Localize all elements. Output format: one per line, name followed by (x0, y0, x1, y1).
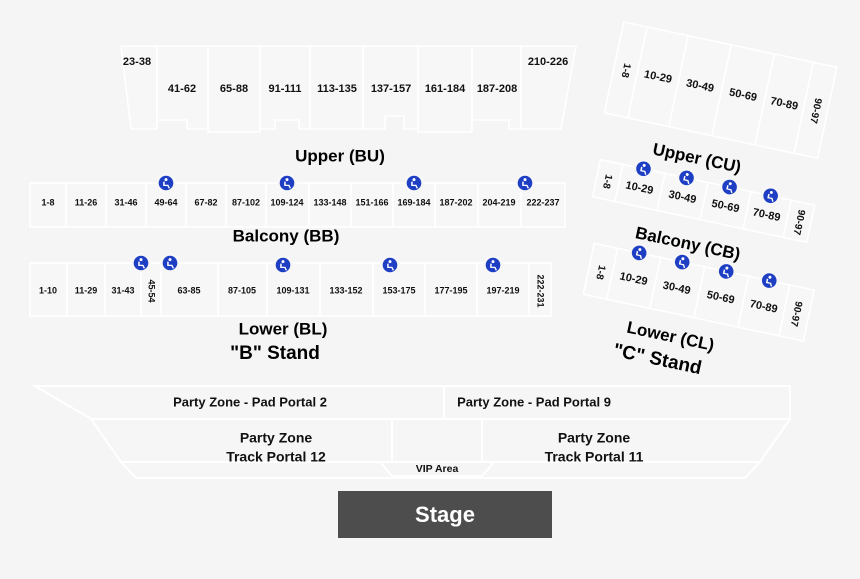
zone-subtitle-lower-bl: "B" Stand (230, 343, 320, 364)
section-label: 177-195 (434, 285, 467, 295)
section-label: 187-202 (439, 197, 472, 207)
label-track-portal-11-line1: Party Zone (558, 430, 631, 446)
section-label: 11-26 (75, 197, 98, 207)
section-label: 137-157 (371, 83, 411, 95)
label-pad-portal-2: Party Zone - Pad Portal 2 (173, 394, 327, 409)
zone-title-balcony-bb: Balcony (BB) (233, 226, 340, 245)
section-label: 161-184 (425, 83, 466, 95)
section-label: 109-131 (276, 285, 309, 295)
zone-title-upper-bu: Upper (BU) (295, 146, 385, 165)
section-label: 87-105 (228, 285, 256, 295)
section-label: 1-10 (39, 285, 57, 295)
seating-chart: 23-38 41-62 65-88 91-111 113-135 137-157… (0, 0, 860, 579)
section-label: 11-29 (75, 285, 98, 295)
section-label: 1-8 (41, 197, 54, 207)
section-label: 63-85 (177, 285, 200, 295)
section-label: 113-135 (317, 83, 357, 95)
section-label: 31-43 (111, 285, 134, 295)
section-label: 151-166 (355, 197, 388, 207)
section-label: 109-124 (270, 197, 303, 207)
label-track-portal-12-line1: Party Zone (240, 430, 313, 446)
section-label: 49-64 (154, 197, 177, 207)
section-label: 210-226 (528, 56, 568, 68)
label-track-portal-12-line2: Track Portal 12 (226, 449, 326, 465)
section-label: 204-219 (482, 197, 515, 207)
wheelchair-icon (515, 173, 535, 193)
label-pad-portal-9: Party Zone - Pad Portal 9 (457, 394, 611, 409)
wheelchair-icon (404, 173, 424, 193)
section-label: 197-219 (486, 285, 519, 295)
section-label: 31-46 (114, 197, 137, 207)
wheelchair-icon (160, 253, 180, 273)
section-label: 41-62 (168, 83, 196, 95)
section-label: 87-102 (232, 197, 260, 207)
section-label: 91-111 (268, 83, 301, 95)
seating-map-svg[interactable]: 23-38 41-62 65-88 91-111 113-135 137-157… (0, 0, 860, 579)
wheelchair-icon (273, 255, 293, 275)
label-track-portal-11-line2: Track Portal 11 (545, 449, 644, 465)
section-label: 222-237 (526, 197, 559, 207)
wheelchair-icon (380, 255, 400, 275)
section-label: 153-175 (382, 285, 415, 295)
section-label: 65-88 (220, 83, 248, 95)
floor-vip-upper[interactable] (392, 419, 482, 462)
stage-label: Stage (415, 502, 475, 527)
section-label: 133-152 (329, 285, 362, 295)
section-label: 169-184 (397, 197, 430, 207)
wheelchair-icon (131, 253, 151, 273)
label-vip-area: VIP Area (416, 463, 459, 475)
section-label: 222-231 (536, 274, 546, 307)
wheelchair-icon (483, 255, 503, 275)
zone-title-lower-bl: Lower (BL) (239, 319, 328, 338)
section-label: 67-82 (194, 197, 217, 207)
section-label: 45-54 (147, 279, 157, 302)
wheelchair-icon (156, 173, 176, 193)
section-label: 187-208 (477, 83, 517, 95)
section-label: 23-38 (123, 56, 151, 68)
stage[interactable]: Stage (338, 491, 552, 538)
section-label: 133-148 (313, 197, 346, 207)
wheelchair-icon (277, 173, 297, 193)
